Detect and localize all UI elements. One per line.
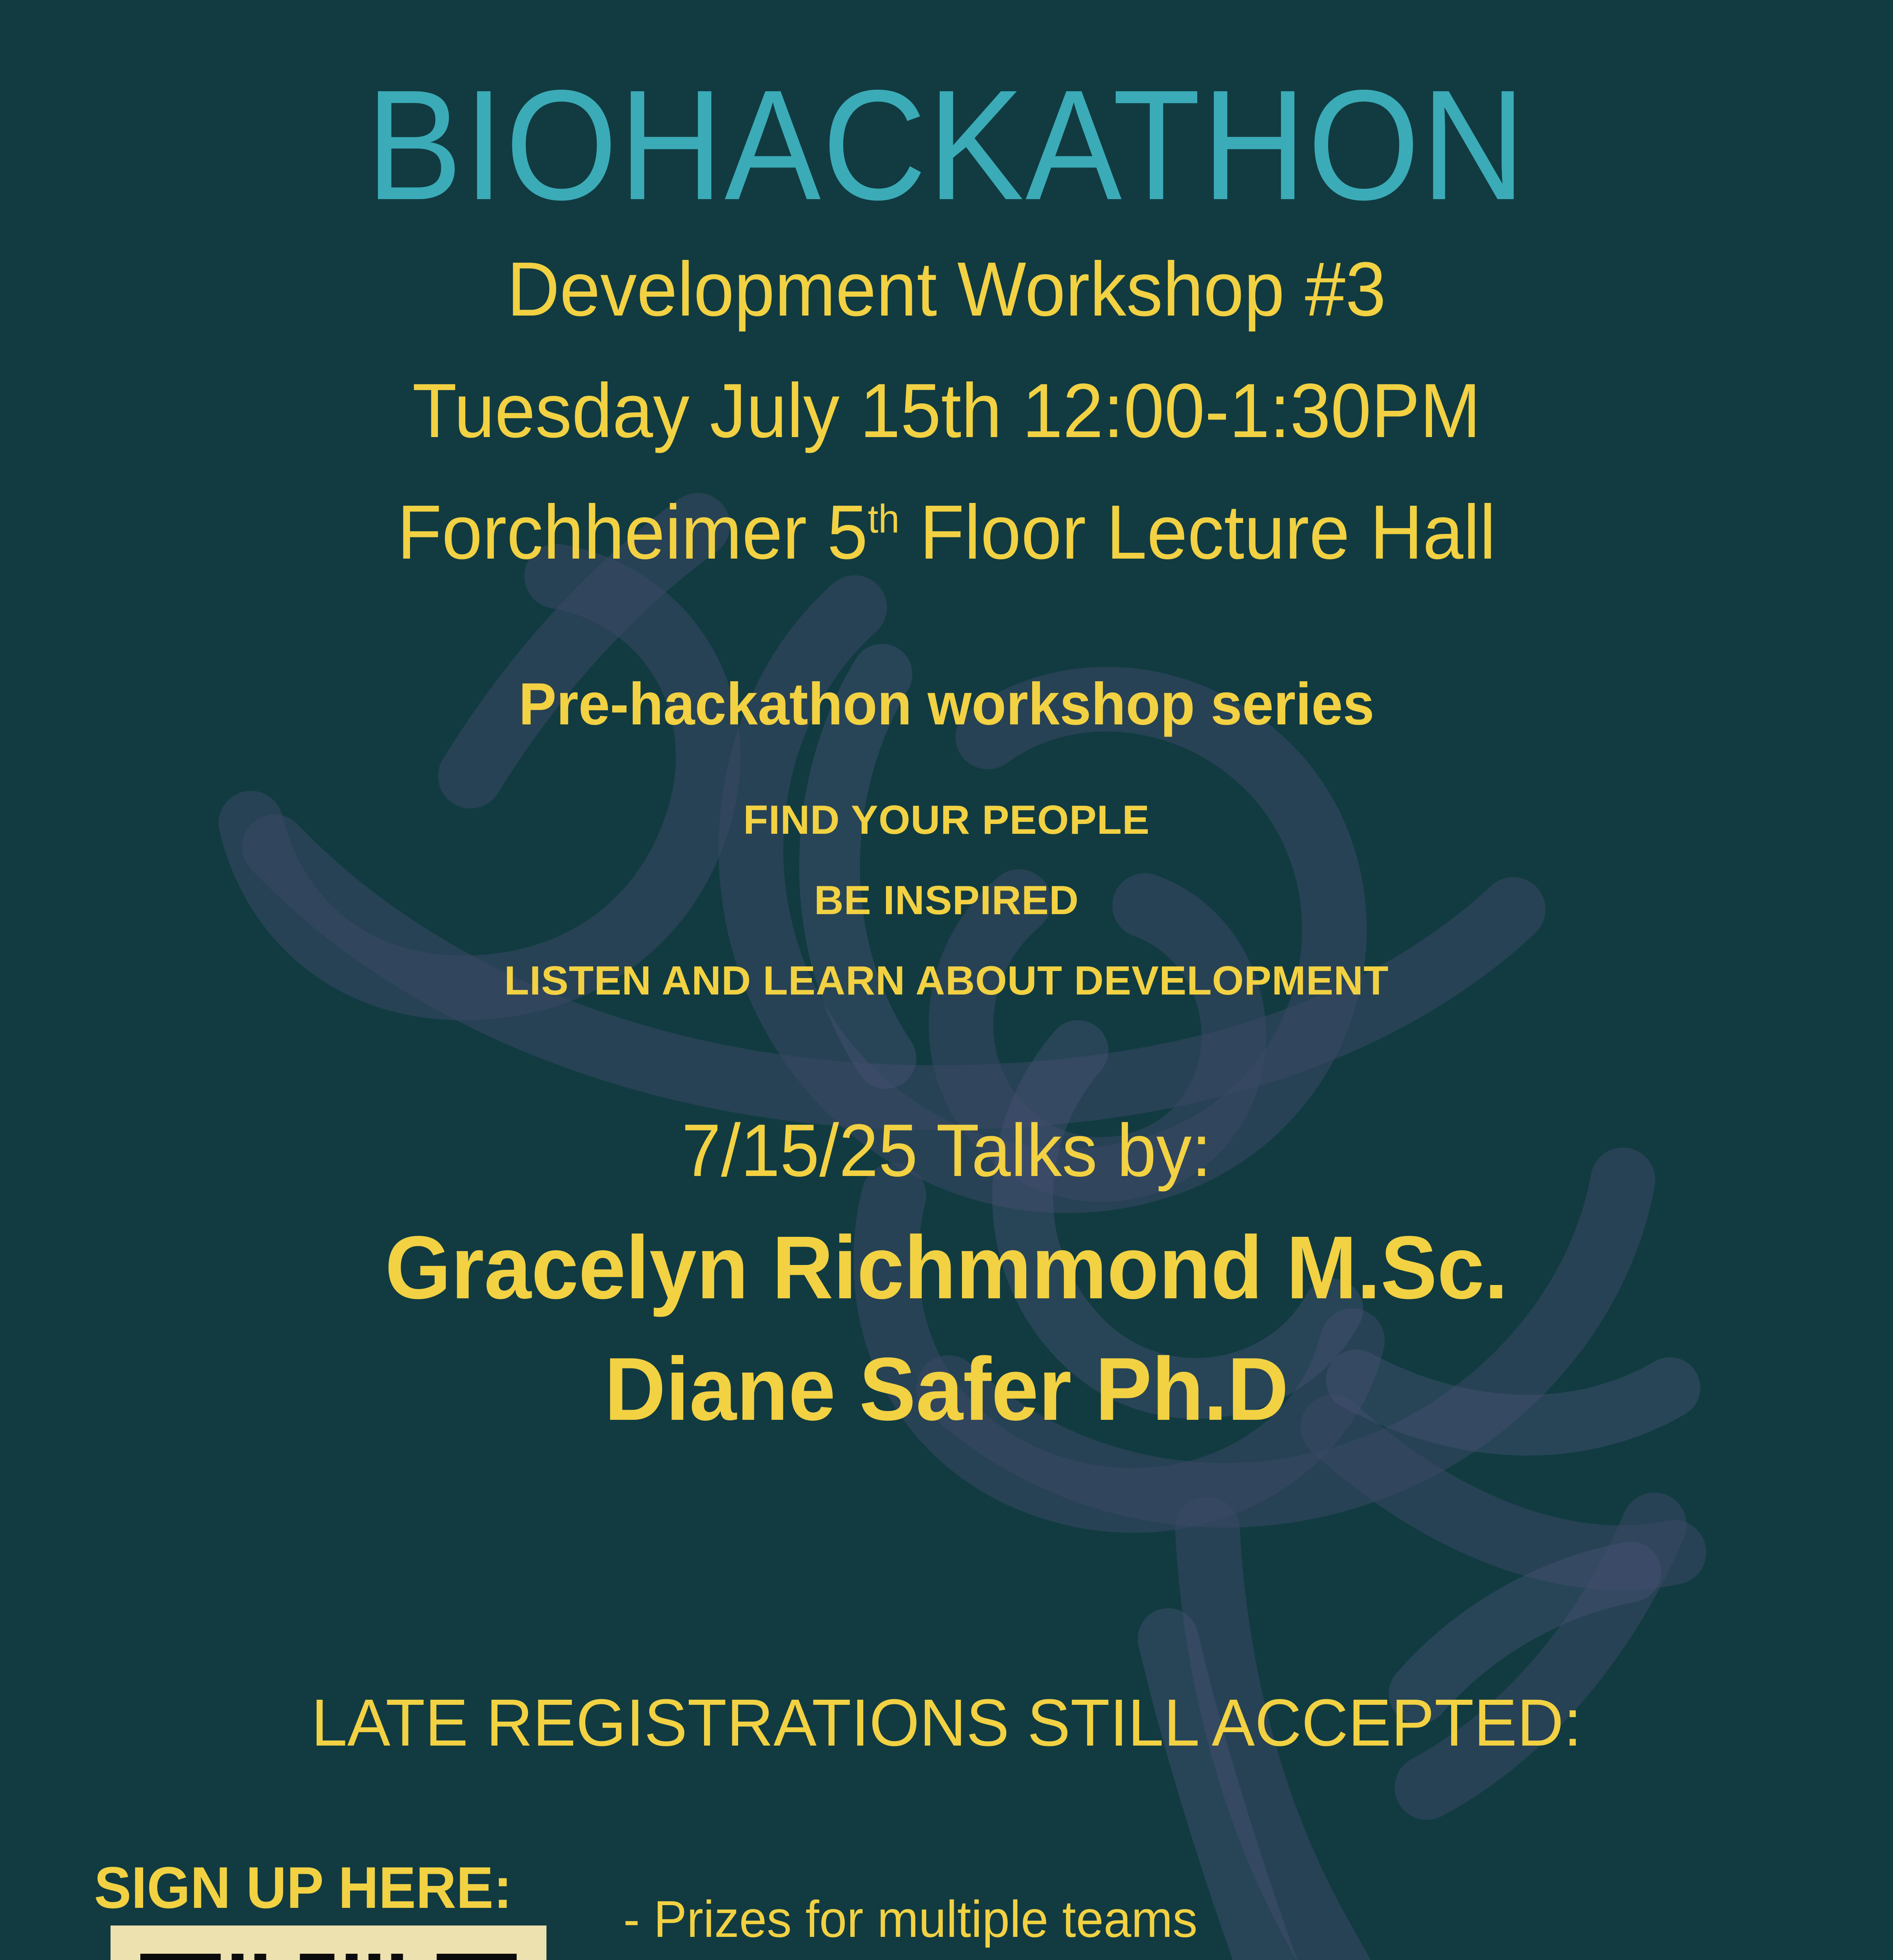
speaker-name-2: Diane Safer Ph.D <box>47 1345 1846 1434</box>
location-prefix: Forchheimer 5 <box>397 489 868 575</box>
speaker-name-1: Gracelyn Richmmond M.Sc. <box>47 1223 1846 1312</box>
event-datetime: Tuesday July 15th 12:00-1:30PM <box>47 372 1846 449</box>
late-registration-notice: LATE REGISTRATIONS STILL ACCEPTED: <box>28 1690 1864 1756</box>
benefit-prizes: - Prizes for multiple teams <box>623 1893 1198 1945</box>
location-suffix: Floor Lecture Hall <box>899 489 1496 575</box>
qr-code-signup[interactable] <box>111 1926 546 1960</box>
tagline-be-inspired: BE INSPIRED <box>0 880 1893 921</box>
tagline-listen-and-learn: LISTEN AND LEARN ABOUT DEVELOPMENT <box>0 960 1893 1001</box>
location-ordinal-suffix: th <box>868 497 900 541</box>
qr-code-canvas[interactable] <box>140 1954 517 1960</box>
page-title: BIOHACKATHON <box>76 67 1817 223</box>
event-location: Forchheimer 5th Floor Lecture Hall <box>47 494 1846 571</box>
signup-here-label: SIGN UP HERE: <box>94 1858 512 1917</box>
workshop-subtitle: Development Workshop #3 <box>47 251 1846 328</box>
talks-intro: 7/15/25 Talks by: <box>47 1113 1846 1188</box>
tagline-find-your-people: FIND YOUR PEOPLE <box>0 800 1893 840</box>
series-heading: Pre-hackathon workshop series <box>47 674 1846 734</box>
